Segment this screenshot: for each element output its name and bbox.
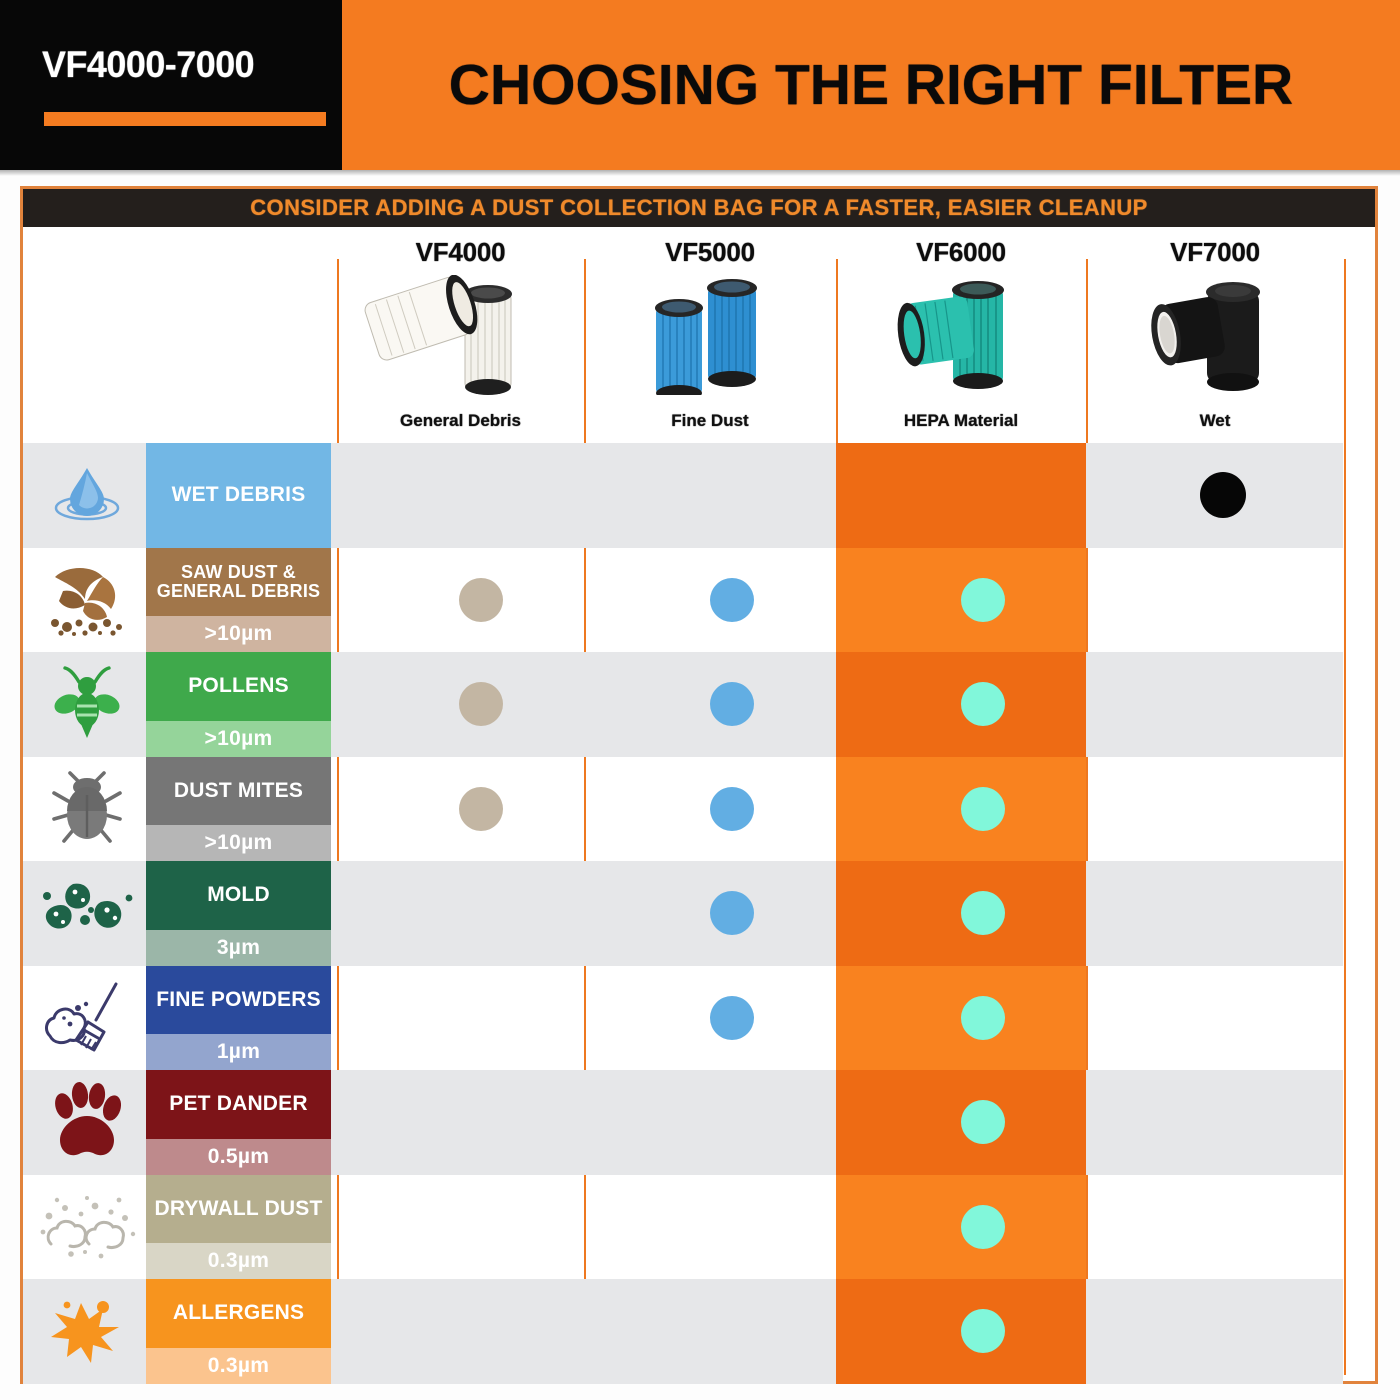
row-label-cell: POLLENS >10µm xyxy=(146,652,331,757)
paw-print-icon xyxy=(28,1070,146,1175)
column-description: General Debris xyxy=(337,411,584,431)
mark-vf5000 xyxy=(710,891,754,935)
mark-vf6000 xyxy=(961,1100,1005,1144)
row-label: ALLERGENS xyxy=(146,1279,331,1348)
mark-vf4000 xyxy=(459,787,503,831)
page-title: CHOOSING THE RIGHT FILTER xyxy=(342,0,1400,170)
mark-vf6000 xyxy=(961,996,1005,1040)
row-label-cell: PET DANDER 0.5µm xyxy=(146,1070,331,1175)
mark-vf4000 xyxy=(459,682,503,726)
column-header-vf6000: VF6000 xyxy=(836,227,1086,437)
row-label-cell: DRYWALL DUST 0.3µm xyxy=(146,1175,331,1280)
mark-vf6000 xyxy=(961,1205,1005,1249)
column-name: VF6000 xyxy=(836,227,1086,268)
column-name: VF7000 xyxy=(1086,227,1344,268)
promo-banner: CONSIDER ADDING A DUST COLLECTION BAG FO… xyxy=(23,189,1375,227)
mark-vf6000 xyxy=(961,682,1005,726)
column-name: VF5000 xyxy=(584,227,836,268)
blue-pleated-filter-icon xyxy=(584,275,836,395)
table-row: SAW DUST &GENERAL DEBRIS >10µm xyxy=(23,548,1375,653)
column-header-vf4000: VF4000 xyxy=(337,227,584,437)
wood-shavings-icon xyxy=(28,548,146,653)
row-label: MOLD xyxy=(146,861,331,930)
row-label: DUST MITES xyxy=(146,757,331,826)
row-size: 3µm xyxy=(146,930,331,966)
mark-vf6000 xyxy=(961,891,1005,935)
broom-dust-icon xyxy=(28,966,146,1071)
row-label: FINE POWDERS xyxy=(146,966,331,1035)
comparison-table-card: CONSIDER ADDING A DUST COLLECTION BAG FO… xyxy=(20,186,1378,1384)
mark-vf7000 xyxy=(1200,472,1246,518)
row-size: >10µm xyxy=(146,721,331,757)
water-droplet-icon xyxy=(28,443,146,548)
table-row: MOLD 3µm xyxy=(23,861,1375,966)
row-size: >10µm xyxy=(146,616,331,652)
dust-mite-icon xyxy=(28,757,146,862)
white-pleated-filter-icon xyxy=(337,275,584,395)
vf6000-highlight xyxy=(836,443,1086,548)
row-label-cell: SAW DUST &GENERAL DEBRIS >10µm xyxy=(146,548,331,653)
column-description: Fine Dust xyxy=(584,411,836,431)
black-foam-filter-icon xyxy=(1086,275,1344,395)
mark-vf5000 xyxy=(710,996,754,1040)
mark-vf4000 xyxy=(459,578,503,622)
row-label: PET DANDER xyxy=(146,1070,331,1139)
mark-vf6000 xyxy=(961,578,1005,622)
row-label-cell: MOLD 3µm xyxy=(146,861,331,966)
row-label: WET DEBRIS xyxy=(146,443,331,548)
column-description: Wet xyxy=(1086,411,1344,431)
column-description: HEPA Material xyxy=(836,411,1086,431)
table-row: DRYWALL DUST 0.3µm xyxy=(23,1175,1375,1280)
row-size: 0.3µm xyxy=(146,1348,331,1384)
row-size: 0.5µm xyxy=(146,1139,331,1175)
row-label-cell: ALLERGENS 0.3µm xyxy=(146,1279,331,1384)
mold-spores-icon xyxy=(28,861,146,966)
header-accent-rule xyxy=(44,112,326,126)
allergen-burst-icon xyxy=(28,1279,146,1384)
page-header: VF4000-7000 CHOOSING THE RIGHT FILTER xyxy=(0,0,1400,170)
mark-vf6000 xyxy=(961,1309,1005,1353)
header-shadow xyxy=(0,170,1400,176)
header-sku-label: VF4000-7000 xyxy=(42,44,318,86)
header-sku-panel: VF4000-7000 xyxy=(0,0,342,170)
mark-vf5000 xyxy=(710,682,754,726)
mark-vf6000 xyxy=(961,787,1005,831)
mark-vf5000 xyxy=(710,787,754,831)
row-size: >10µm xyxy=(146,825,331,861)
column-header-vf5000: VF5000 xyxy=(584,227,836,437)
row-label-cell: FINE POWDERS 1µm xyxy=(146,966,331,1071)
column-name: VF4000 xyxy=(337,227,584,268)
column-header-vf7000: VF7000 Wet xyxy=(1086,227,1344,437)
row-label: SAW DUST &GENERAL DEBRIS xyxy=(146,548,331,617)
drywall-dust-icon xyxy=(28,1175,146,1280)
row-label: DRYWALL DUST xyxy=(146,1175,331,1244)
table-row: ALLERGENS 0.3µm xyxy=(23,1279,1375,1384)
row-size: 1µm xyxy=(146,1034,331,1070)
table-row: FINE POWDERS 1µm xyxy=(23,966,1375,1071)
table-row: DUST MITES >10µm xyxy=(23,757,1375,862)
bee-icon xyxy=(28,652,146,757)
row-label-cell: WET DEBRIS xyxy=(146,443,331,548)
mark-vf5000 xyxy=(710,578,754,622)
comparison-rows: WET DEBRIS xyxy=(23,443,1375,1381)
row-label-cell: DUST MITES >10µm xyxy=(146,757,331,862)
teal-hepa-filter-icon xyxy=(836,275,1086,395)
table-row: WET DEBRIS xyxy=(23,443,1375,548)
row-size: 0.3µm xyxy=(146,1243,331,1279)
table-row: PET DANDER 0.5µm xyxy=(23,1070,1375,1175)
filter-comparison-infographic: VF4000-7000 CHOOSING THE RIGHT FILTER CO… xyxy=(0,0,1400,1400)
row-label: POLLENS xyxy=(146,652,331,721)
table-row: POLLENS >10µm xyxy=(23,652,1375,757)
